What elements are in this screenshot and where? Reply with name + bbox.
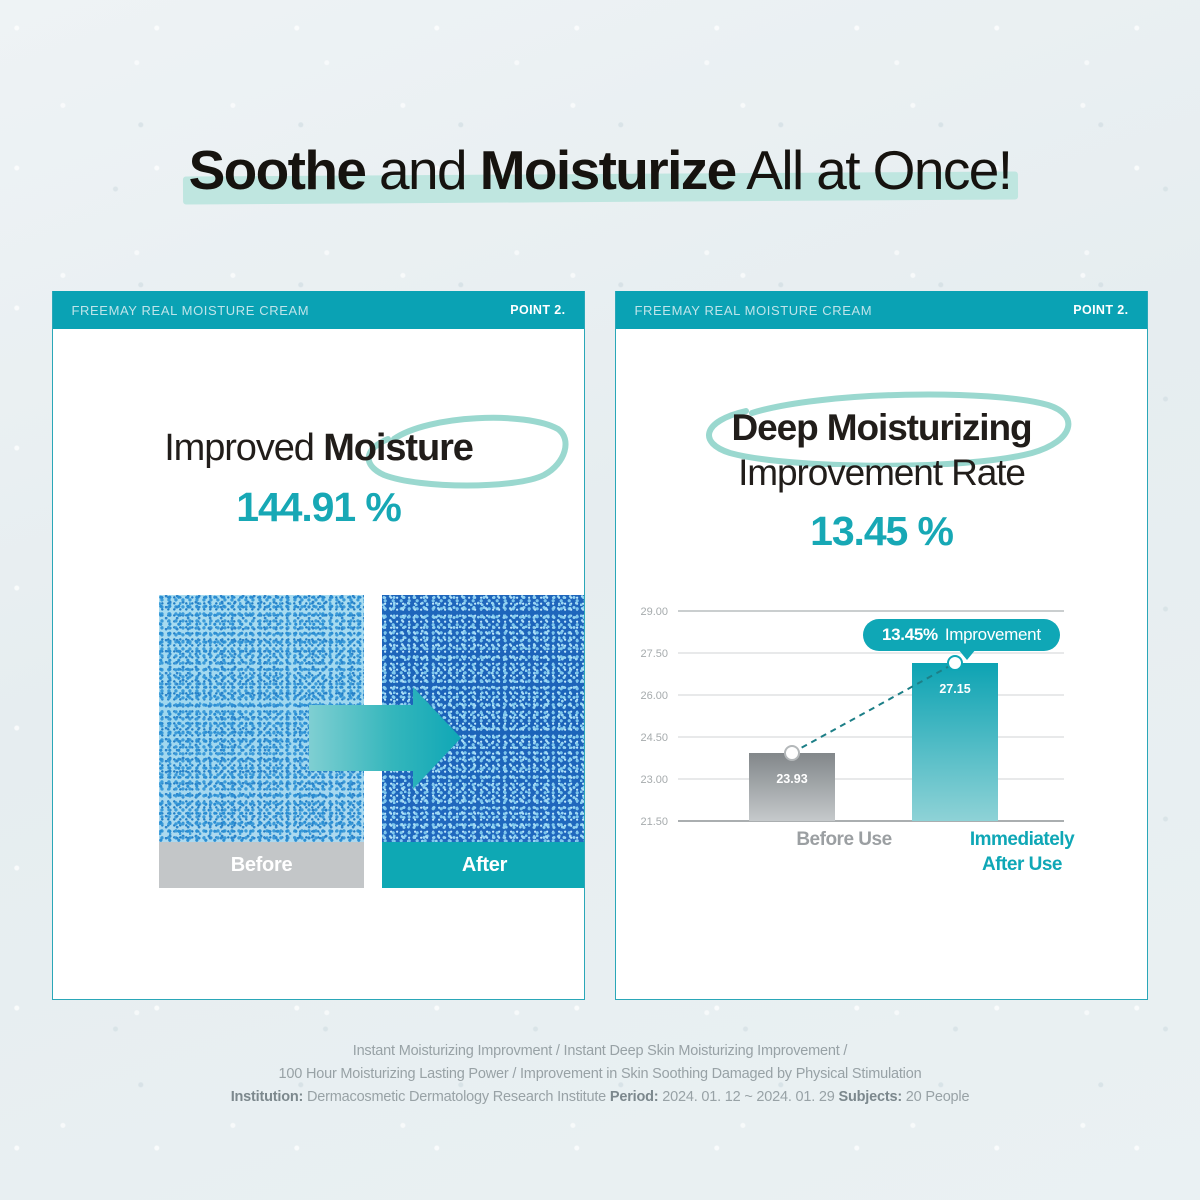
value-label-after: 27.15 [939, 682, 970, 696]
institution-value: Dermacosmetic Dermatology Research Insti… [303, 1089, 610, 1105]
svg-text:24.50: 24.50 [640, 732, 668, 744]
left-card-heading: Improved Moisture 144.91 % [53, 329, 584, 535]
chart-y-axis-labels: 29.00 27.50 26.00 24.50 23.00 21.50 [640, 606, 668, 828]
period-value: 2024. 01. 12 ~ 2024. 01. 29 [658, 1089, 838, 1105]
heading-improved: Improved [164, 427, 323, 469]
svg-text:29.00: 29.00 [640, 606, 668, 618]
heading-moisture: Moisture [323, 427, 473, 469]
arrow-label: 144.91% Increase [61, 621, 167, 673]
svg-text:23.00: 23.00 [640, 774, 668, 786]
brand-label: FREEMAY REAL MOISTURE CREAM [72, 303, 310, 318]
svg-text:26.00: 26.00 [640, 690, 668, 702]
moisture-bar-chart: 29.00 27.50 26.00 24.50 23.00 21.50 23.9… [616, 591, 1148, 881]
arrow-word: Increase [61, 647, 167, 673]
page-title: Soothe and Moisturize All at Once! [0, 132, 1200, 208]
cat-label-after-line2: After Use [912, 852, 1132, 877]
callout-word: Improvement [945, 625, 1041, 645]
arrow-percent: 144.91% [61, 621, 167, 647]
subjects-value: 20 People [902, 1089, 969, 1105]
increase-arrow-icon [309, 687, 461, 789]
before-caption: Before [159, 842, 364, 888]
title-part-and: and [365, 139, 479, 201]
cat-label-after: Immediately After Use [912, 827, 1132, 877]
title-part-all-at-once: All at Once! [736, 139, 1012, 201]
footnote-line-1: Instant Moisturizing Improvment / Instan… [0, 1040, 1200, 1063]
institution-label: Institution: [231, 1089, 304, 1105]
right-percent-value: 13.45 % [616, 503, 1147, 559]
heading-improvement-rate: Improvement Rate [616, 450, 1147, 495]
heading-deep-moisturizing: Deep Moisturizing [616, 405, 1147, 450]
card-improved-moisture: FREEMAY REAL MOISTURE CREAM POINT 2. Imp… [52, 291, 585, 1000]
card-header-right: FREEMAY REAL MOISTURE CREAM POINT 2. [615, 291, 1148, 329]
study-footnote: Instant Moisturizing Improvment / Instan… [0, 1040, 1200, 1109]
chart-x-axis-labels: Before Use Immediately After Use [616, 827, 1148, 883]
callout-pointer-icon [958, 649, 976, 660]
subjects-label: Subjects: [839, 1089, 902, 1105]
card-header-left: FREEMAY REAL MOISTURE CREAM POINT 2. [52, 291, 585, 329]
title-part-moisturize: Moisturize [480, 139, 736, 201]
before-after-comparison: Before After 144.91% Increase [53, 595, 584, 888]
period-label: Period: [610, 1089, 659, 1105]
card-deep-moisturizing: FREEMAY REAL MOISTURE CREAM POINT 2. Dee… [615, 291, 1148, 1000]
svg-text:27.50: 27.50 [640, 648, 668, 660]
title-part-soothe: Soothe [189, 139, 366, 201]
marker-before [785, 746, 799, 760]
footnote-line-2: 100 Hour Moisturizing Lasting Power / Im… [0, 1063, 1200, 1086]
point-badge: POINT 2. [1073, 303, 1128, 317]
improvement-callout-badge: 13.45% Improvement [863, 619, 1060, 651]
after-caption: After [382, 842, 585, 888]
bar-before [749, 753, 835, 821]
value-label-before: 23.93 [776, 772, 807, 786]
brand-label: FREEMAY REAL MOISTURE CREAM [635, 303, 873, 318]
right-card-heading: Deep Moisturizing Improvement Rate 13.45… [616, 329, 1147, 559]
point-badge: POINT 2. [510, 303, 565, 317]
cat-label-after-line1: Immediately [912, 827, 1132, 852]
callout-percent: 13.45% [882, 625, 938, 645]
left-percent-value: 144.91 % [53, 479, 584, 535]
footnote-line-3: Institution: Dermacosmetic Dermatology R… [0, 1086, 1200, 1109]
